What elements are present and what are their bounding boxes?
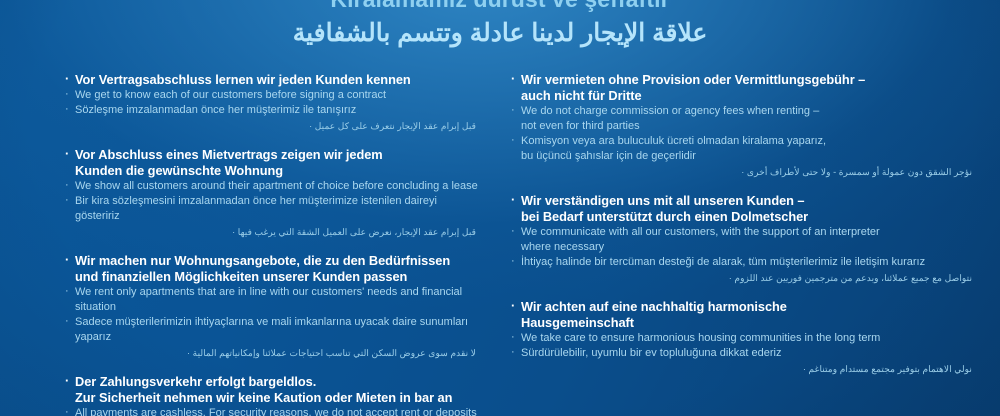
bullet-block: Wir verständigen uns mit all unseren Kun… <box>510 193 974 285</box>
bullet-heading-de: Wir achten auf eine nachhaltig harmonisc… <box>510 299 974 315</box>
bullet-heading-de: bei Bedarf unterstützt durch einen Dolme… <box>510 209 974 225</box>
right-column: Wir vermieten ohne Provision oder Vermit… <box>500 72 1000 416</box>
bullet-text-en: not even for third parties <box>510 119 974 134</box>
bullet-heading-de: Wir vermieten ohne Provision oder Vermit… <box>510 72 974 88</box>
bullet-text-en: We take care to ensure harmonious housin… <box>510 331 974 346</box>
bullet-text-tr: bu üçüncü şahıslar için de geçerlidir <box>510 149 974 164</box>
bullet-text-tr: İhtiyaç halinde bir tercüman desteği de … <box>510 255 974 270</box>
bullet-text-tr: Komisyon veya ara buluculuk ücreti olmad… <box>510 134 974 149</box>
bullet-block: Wir achten auf eine nachhaltig harmonisc… <box>510 299 974 376</box>
bullet-text-ar: نتواصل مع جميع عملائنا، وبدعم من مترجمين… <box>510 271 974 285</box>
bullet-text-tr: Sadece müşterilerimizin ihtiyaçlarına ve… <box>64 315 478 345</box>
bullet-text-ar: قبل إبرام عقد الإيجار نتعرف على كل عميل <box>64 119 478 133</box>
slide-root: Kiralamamız dürüst ve şeffaftır علاقة ال… <box>0 0 1000 416</box>
bullet-block: Wir machen nur Wohnungsangebote, die zu … <box>64 253 478 360</box>
bullet-heading-de: Hausgemeinschaft <box>510 315 974 331</box>
title-arabic: علاقة الإيجار لدينا عادلة وتتسم بالشفافي… <box>0 16 1000 50</box>
bullet-heading-de: Der Zahlungsverkehr erfolgt bargeldlos. <box>64 374 478 390</box>
bullet-text-tr: Bir kira sözleşmesini imzalanmadan önce … <box>64 194 478 224</box>
bullet-heading-de: und finanziellen Möglichkeiten unserer K… <box>64 269 478 285</box>
bullet-block: Der Zahlungsverkehr erfolgt bargeldlos.Z… <box>64 374 478 416</box>
bullet-block: Vor Abschluss eines Mietvertrags zeigen … <box>64 147 478 239</box>
left-column: Vor Vertragsabschluss lernen wir jeden K… <box>0 72 500 416</box>
bullet-text-tr: Sürdürülebilir, uyumlu bir ev topluluğun… <box>510 346 974 361</box>
bullet-heading-de: auch nicht für Dritte <box>510 88 974 104</box>
bullet-heading-de: Kunden die gewünschte Wohnung <box>64 163 478 179</box>
bullet-text-ar: نولي الاهتمام بتوفير مجتمع مستدام ومتناغ… <box>510 362 974 376</box>
bullet-text-tr: Sözleşme imzalanmadan önce her müşterimi… <box>64 103 478 118</box>
bullet-heading-de: Wir verständigen uns mit all unseren Kun… <box>510 193 974 209</box>
bullet-heading-de: Wir machen nur Wohnungsangebote, die zu … <box>64 253 478 269</box>
bullet-text-en: We do not charge commission or agency fe… <box>510 104 974 119</box>
bullet-heading-de: Vor Vertragsabschluss lernen wir jeden K… <box>64 72 478 88</box>
content-columns: Vor Vertragsabschluss lernen wir jeden K… <box>0 72 1000 416</box>
bullet-text-en: We communicate with all our customers, w… <box>510 225 974 240</box>
bullet-text-ar: نؤجر الشقق دون عمولة أو سمسرة - ولا حتى … <box>510 165 974 179</box>
bullet-text-ar: قبل إبرام عقد الإيجار، نعرض على العميل ا… <box>64 225 478 239</box>
bullet-text-ar: لا نقدم سوى عروض السكن التي تناسب احتياج… <box>64 346 478 360</box>
bullet-heading-de: Vor Abschluss eines Mietvertrags zeigen … <box>64 147 478 163</box>
bullet-text-en: We rent only apartments that are in line… <box>64 285 478 315</box>
bullet-heading-de: Zur Sicherheit nehmen wir keine Kaution … <box>64 390 478 406</box>
slide-header: Kiralamamız dürüst ve şeffaftır علاقة ال… <box>0 0 1000 50</box>
bullet-block: Vor Vertragsabschluss lernen wir jeden K… <box>64 72 478 133</box>
bullet-text-en: All payments are cashless. For security … <box>64 406 478 416</box>
bullet-block: Wir vermieten ohne Provision oder Vermit… <box>510 72 974 179</box>
bullet-text-en: where necessary <box>510 240 974 255</box>
bullet-text-en: We show all customers around their apart… <box>64 179 478 194</box>
bullet-text-en: We get to know each of our customers bef… <box>64 88 478 103</box>
title-german-turkish: Kiralamamız dürüst ve şeffaftır <box>0 0 1000 14</box>
